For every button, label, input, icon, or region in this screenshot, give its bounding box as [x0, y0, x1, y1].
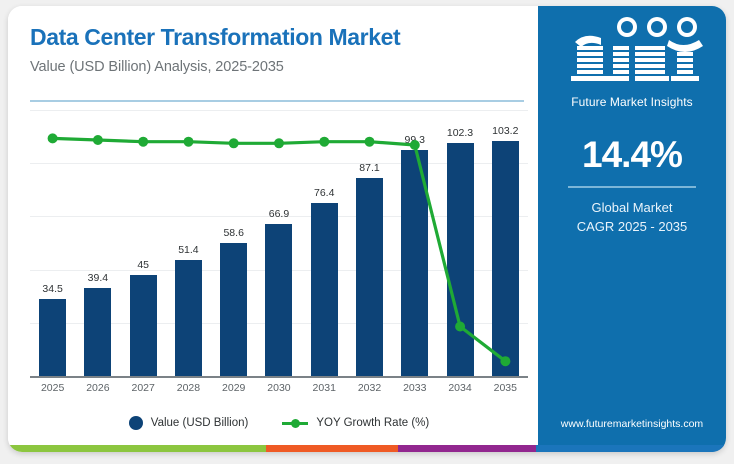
plot-area: 34.539.44551.458.666.976.487.199.3102.31…: [30, 110, 528, 378]
cagr-value: 14.4%: [538, 134, 726, 176]
bar[interactable]: [39, 299, 66, 378]
bar-value-label: 39.4: [75, 272, 120, 284]
cagr-caption-line2: CAGR 2025 - 2035: [538, 217, 726, 236]
cagr-caption: Global Market CAGR 2025 - 2035: [538, 198, 726, 236]
cagr-divider: [568, 186, 696, 188]
page-title: Data Center Transformation Market: [30, 24, 520, 51]
bar-value-label: 76.4: [302, 187, 347, 199]
chart-header: Data Center Transformation Market Value …: [30, 24, 520, 75]
bar[interactable]: [492, 141, 519, 378]
x-axis-tick-label: 2034: [437, 382, 482, 402]
bar-series: 34.539.44551.458.666.976.487.199.3102.31…: [30, 110, 528, 378]
x-axis-tick-label: 2032: [347, 382, 392, 402]
chart-legend: Value (USD Billion) YOY Growth Rate (%): [30, 410, 528, 436]
bar-value-label: 34.5: [30, 283, 75, 295]
legend-item-growth[interactable]: YOY Growth Rate (%): [282, 417, 429, 429]
legend-label-growth: YOY Growth Rate (%): [316, 417, 429, 429]
chart-pane: Data Center Transformation Market Value …: [8, 6, 538, 452]
x-axis-tick-label: 2033: [392, 382, 437, 402]
bar[interactable]: [447, 143, 474, 378]
bar[interactable]: [265, 224, 292, 378]
cagr-block: 14.4% Global Market CAGR 2025 - 2035: [538, 134, 726, 236]
bar-column: 66.9: [256, 110, 301, 378]
bar-column: 39.4: [75, 110, 120, 378]
x-axis-tick-label: 2026: [75, 382, 120, 402]
x-axis-line: [30, 376, 528, 378]
infographic-card: Data Center Transformation Market Value …: [8, 6, 726, 452]
footer-color-stripe: [8, 445, 726, 452]
bar-column: 34.5: [30, 110, 75, 378]
website-url[interactable]: www.futuremarketinsights.com: [538, 418, 726, 430]
bar[interactable]: [84, 288, 111, 378]
bar[interactable]: [311, 203, 338, 378]
bar[interactable]: [356, 178, 383, 378]
bar-column: 76.4: [302, 110, 347, 378]
legend-label-value: Value (USD Billion): [151, 417, 249, 429]
navy-dot-icon: [129, 416, 143, 430]
x-axis-tick-label: 2029: [211, 382, 256, 402]
stripe-segment: [266, 445, 398, 452]
stripe-segment: [398, 445, 536, 452]
bar-value-label: 99.3: [392, 134, 437, 146]
brand-name: Future Market Insights: [557, 95, 707, 109]
bar-column: 51.4: [166, 110, 211, 378]
header-divider: [30, 100, 524, 102]
bar[interactable]: [130, 275, 157, 378]
brand-pane: Future Market Insights 14.4% Global Mark…: [538, 6, 726, 452]
x-axis-tick-label: 2035: [483, 382, 528, 402]
stripe-segment: [536, 445, 726, 452]
x-axis-tick-label: 2028: [166, 382, 211, 402]
bar-column: 103.2: [483, 110, 528, 378]
green-line-dot-icon: [282, 417, 308, 429]
x-axis-tick-label: 2025: [30, 382, 75, 402]
legend-item-value[interactable]: Value (USD Billion): [129, 416, 249, 430]
cagr-caption-line1: Global Market: [538, 198, 726, 217]
bar[interactable]: [175, 260, 202, 378]
bar[interactable]: [220, 243, 247, 378]
bar[interactable]: [401, 150, 428, 378]
bar-value-label: 102.3: [437, 127, 482, 139]
chart-subtitle: Value (USD Billion) Analysis, 2025-2035: [30, 59, 520, 75]
x-axis-labels: 2025202620272028202920302031203220332034…: [30, 382, 528, 402]
bar-column: 99.3: [392, 110, 437, 378]
bar-column: 45: [121, 110, 166, 378]
bar-column: 102.3: [437, 110, 482, 378]
fmi-logo-icon: [557, 16, 707, 88]
bar-value-label: 66.9: [256, 208, 301, 220]
bar-value-label: 103.2: [483, 125, 528, 137]
bar-value-label: 58.6: [211, 227, 256, 239]
bar-value-label: 51.4: [166, 244, 211, 256]
x-axis-tick-label: 2030: [256, 382, 301, 402]
bar-value-label: 45: [121, 259, 166, 271]
bar-value-label: 87.1: [347, 162, 392, 174]
bar-column: 87.1: [347, 110, 392, 378]
bar-column: 58.6: [211, 110, 256, 378]
stripe-segment: [8, 445, 266, 452]
fmi-logo: Future Market Insights: [538, 16, 726, 111]
x-axis-tick-label: 2031: [302, 382, 347, 402]
x-axis-tick-label: 2027: [121, 382, 166, 402]
